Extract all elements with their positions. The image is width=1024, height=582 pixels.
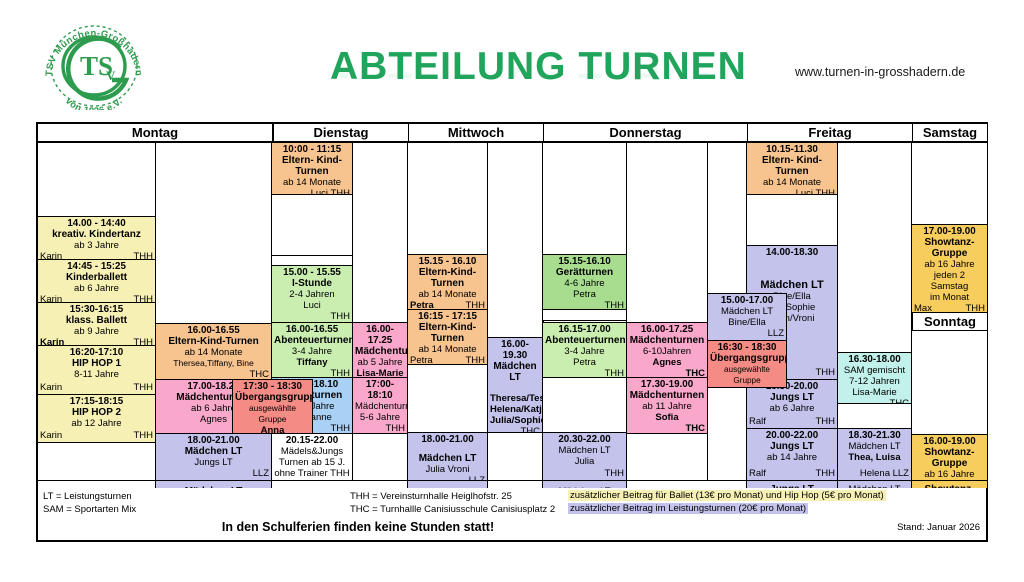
class-time: 14.00 - 14:40: [40, 218, 153, 229]
day-header-freitag: Freitag: [747, 123, 913, 142]
class-age: 6-10Jahren: [629, 346, 705, 357]
class-age: 3-4 Jahre: [274, 346, 350, 357]
day-header-mittwoch: Mittwoch: [408, 123, 544, 142]
empty-cell: [911, 142, 988, 225]
class-age: ab 6 Jahre: [749, 403, 835, 414]
class-age: Bine/Ella: [710, 317, 784, 328]
class-name: Gerätturnen: [545, 267, 624, 278]
class-coach: ohne Trainer THH: [274, 468, 350, 479]
class-age: ab 14 Monate: [749, 177, 835, 188]
class-block-mo4[interactable]: 16:20-17:10 HIP HOP 1 8-11 Jahre KarinTH…: [37, 345, 156, 395]
class-time: 20.00-22.00: [749, 430, 835, 441]
class-coach-3: Julia/Sophie: [490, 415, 540, 426]
class-name: HIP HOP 1: [40, 358, 153, 369]
class-block-di3[interactable]: 16.00-16.55 Abenteuerturnen 3-4 Jahre Ti…: [271, 322, 353, 378]
class-block-mo8[interactable]: 18.00-21.00 Mädchen LT Jungs LT LLZ: [155, 433, 272, 481]
class-time: 15:30-16:15: [40, 304, 153, 315]
class-coach: Karin: [40, 430, 62, 441]
legend-fee-lt: zusätzlicher Beitrag im Leistungsturnen …: [568, 503, 808, 514]
class-age: 7-12 Jahren: [840, 376, 909, 387]
legend-sam: SAM = Sportarten Mix: [43, 504, 136, 515]
class-name: Übergangsgruppe: [710, 353, 784, 364]
class-name: Mädchenturnen: [629, 335, 705, 346]
class-block-do7[interactable]: 16:30 - 18:30 Übergangsgruppe ausgewählt…: [707, 340, 787, 388]
class-age: ab 12 Jahre: [40, 418, 153, 429]
class-age: Julia: [545, 456, 624, 467]
empty-cell: [837, 403, 912, 429]
class-name: Eltern-Kind-Turnen: [158, 336, 269, 347]
day-header-sonntag: Sonntag: [912, 312, 988, 331]
empty-cell: [487, 142, 543, 338]
empty-cell: [352, 142, 408, 327]
class-hall: LLZ: [710, 328, 784, 339]
class-block-di6[interactable]: 16.00-17.25 Mädchenturnen ab 5 Jahre Lis…: [352, 322, 408, 378]
day-header-donnerstag: Donnerstag: [543, 123, 748, 142]
empty-cell: [271, 194, 353, 256]
empty-cell: [542, 377, 627, 433]
class-block-do1[interactable]: 15.15-16.10 Gerätturnen 4-6 Jahre Petra …: [542, 254, 627, 310]
class-time: 17.00-19.00: [914, 226, 985, 237]
class-coach: Tiffany: [274, 357, 350, 368]
class-time: 20.15-22.00: [274, 435, 350, 446]
class-name: Mädchen LT: [545, 445, 624, 456]
class-time: 18.00-21.00: [158, 435, 269, 446]
class-age: ab 14 Monate: [274, 177, 350, 188]
class-time: 17:30 - 18:30: [235, 381, 310, 392]
class-block-do2[interactable]: 16.15-17.00 Abenteuerturnen 3-4 Jahre Pe…: [542, 322, 627, 378]
empty-cell: [407, 364, 488, 433]
class-time: 16.00-19.00: [914, 436, 985, 447]
legend-thh: THH = Vereinsturnhalle Heiglhofstr. 25: [350, 491, 512, 502]
class-name: Mädchen LT: [749, 280, 835, 291]
empty-cell: [626, 142, 708, 338]
class-time: 16.00-16.55: [274, 324, 350, 335]
class-name: Mädchenturnen: [629, 390, 705, 401]
class-name: Mädchenturnen: [355, 401, 405, 412]
class-coach: Agnes: [629, 357, 705, 368]
class-name: Mädchen LT: [410, 453, 485, 464]
website-url: www.turnen-in-grosshadern.de: [795, 65, 965, 79]
class-name: Übergangsgruppe: [235, 392, 310, 403]
class-block-mo5[interactable]: 17:15-18:15 HIP HOP 2 ab 12 Jahre KarinT…: [37, 394, 156, 443]
class-time: 18.00-21.00: [410, 434, 485, 445]
class-block-mo2[interactable]: 14:45 - 15:25 Kinderballett ab 6 Jahre K…: [37, 259, 156, 303]
class-block-mi3[interactable]: 18.00-21.00 Mädchen LT Julia Vroni LLZ: [407, 432, 488, 481]
class-block-mi1[interactable]: 15.15 - 16.10 Eltern-Kind-Turnen ab 14 M…: [407, 254, 488, 310]
class-time: 16:15 - 17:15: [410, 311, 485, 322]
class-name: Mädchen LT: [158, 446, 269, 457]
empty-cell: [37, 142, 156, 217]
class-name: Jungs LT: [749, 441, 835, 452]
day-header-samstag: Samstag: [912, 123, 988, 142]
class-block-fr6[interactable]: 18.30-21.30 Mädchen LT Thea, Luisa Helen…: [837, 428, 912, 481]
class-block-so1[interactable]: 16.00-19.00 Showtanz-Gruppe ab 16 Jahre …: [911, 434, 988, 481]
class-hall: THH: [815, 416, 835, 427]
class-name: kreativ. Kindertanz: [40, 229, 153, 240]
class-block-do5[interactable]: 17.30-19.00 Mädchenturnen ab 11 Jahre So…: [626, 377, 708, 434]
class-coach: Max: [914, 303, 932, 313]
class-time: 15.15 - 16.10: [410, 256, 485, 267]
class-block-fr5[interactable]: 16.30-18.00 SAM gemischt 7-12 Jahren Lis…: [837, 352, 912, 404]
empty-cell: [352, 433, 408, 481]
empty-cell: [487, 432, 543, 481]
class-time: 17:15-18:15: [40, 396, 153, 407]
legend-thc: THC = Turnhallle Canisiusschule Canisius…: [350, 504, 555, 515]
class-coach: Lisa-Marie: [840, 387, 909, 398]
class-name: Showtanz-Gruppe: [914, 237, 985, 259]
class-block-mo9[interactable]: 17:30 - 18:30 Übergangsgruppe ausgewählt…: [232, 379, 313, 434]
class-age: Jungs LT: [158, 457, 269, 468]
class-time: 16.00-17.25: [355, 324, 405, 346]
class-block-do3[interactable]: 20.30-22.00 Mädchen LT Julia THH: [542, 432, 627, 481]
class-name: klass. Ballett: [40, 315, 153, 326]
class-time: 15.00-17.00: [710, 295, 784, 306]
class-time: 18.30-21.30: [840, 430, 909, 441]
class-name: Eltern- Kind-Turnen: [274, 155, 350, 177]
class-name: Eltern-Kind-Turnen: [410, 322, 485, 344]
class-time: 17.30-19.00: [629, 379, 705, 390]
holiday-notice: In den Schulferien finden keine Stunden …: [38, 520, 678, 534]
class-name: Kinderballett: [40, 272, 153, 283]
class-block-mi2[interactable]: 16:15 - 17:15 Eltern-Kind-Turnen ab 14 M…: [407, 309, 488, 365]
class-age: ab 14 Monate: [410, 289, 485, 300]
class-name: Jungs LT: [749, 392, 835, 403]
empty-cell: [626, 433, 708, 481]
class-coach: Helena LLZ: [840, 468, 909, 479]
class-age: Julia Vroni: [410, 464, 485, 475]
class-name: Mädchen LT: [710, 306, 784, 317]
class-hall: LLZ: [158, 468, 269, 479]
class-hall: THH: [815, 468, 835, 479]
class-time: 10:00 - 11:15: [274, 144, 350, 155]
class-age: Turnen ab 15 J.: [274, 457, 350, 468]
class-block-do4[interactable]: 16.00-17.25 Mädchenturnen 6-10Jahren Agn…: [626, 322, 708, 378]
class-name: Eltern-Kind-Turnen: [410, 267, 485, 289]
class-coach: Petra: [545, 357, 624, 368]
class-time: 15.15-16.10: [545, 256, 624, 267]
class-age: ab 16 Jahre: [914, 469, 985, 480]
class-coach: Luci: [274, 300, 350, 311]
class-note-2: im Monat: [914, 292, 985, 303]
class-time: 14.00-18.30: [749, 247, 835, 258]
class-age: 4-6 Jahre: [545, 278, 624, 289]
class-time: 16.30-18.00: [840, 354, 909, 365]
class-note-1: jeden 2 Samstag: [914, 270, 985, 292]
empty-cell: [746, 194, 838, 246]
empty-cell: [707, 387, 747, 481]
legend-fee-ballet: zusätzlicher Beitrag für Ballet (13€ pro…: [568, 490, 886, 501]
class-block-di1[interactable]: 10:00 - 11:15 Eltern- Kind-Turnen ab 14 …: [271, 142, 353, 195]
class-time: 16:20-17:10: [40, 347, 153, 358]
class-age: ab 9 Jahre: [40, 326, 153, 337]
class-coach: Ralf: [749, 468, 766, 479]
schedule-table: Montag Dienstag Mittwoch Donnerstag Frei…: [36, 122, 988, 542]
class-age: ausgewählte Gruppe: [710, 364, 784, 386]
empty-cell: [155, 142, 272, 338]
class-coach: Sofia: [629, 412, 705, 423]
class-block-mo3[interactable]: 15:30-16:15 klass. Ballett ab 9 Jahre Ka…: [37, 302, 156, 346]
class-name: Mädchenturnen: [355, 346, 405, 357]
class-block-di5[interactable]: 20.15-22.00 Mädels&Jungs Turnen ab 15 J.…: [271, 433, 353, 481]
class-age: ab 6 Jahre: [40, 283, 153, 294]
legend-lt: LT = Leistungsturnen: [43, 491, 132, 502]
class-coach: Theresa/Tessa: [490, 393, 540, 404]
class-block-fr4[interactable]: 20.00-22.00 Jungs LT ab 14 Jahre RalfTHH: [746, 428, 838, 481]
class-coach: Karin: [40, 382, 62, 393]
version-date: Stand: Januar 2026: [897, 522, 980, 533]
page-title: ABTEILUNG TURNEN: [330, 44, 770, 90]
class-time: 20.30-22.00: [545, 434, 624, 445]
empty-cell: [707, 142, 747, 294]
class-age: ab 5 Jahre: [355, 357, 405, 368]
class-coach: Thersea,Tiffany, Bine: [158, 358, 269, 369]
class-hall: THH: [965, 303, 985, 313]
class-block-sa1[interactable]: 17.00-19.00 Showtanz-Gruppe ab 16 Jahre …: [911, 224, 988, 313]
class-time: 16.00-16.55: [158, 325, 269, 336]
class-age: ab 11 Jahre: [629, 401, 705, 412]
class-time: 14:45 - 15:25: [40, 261, 153, 272]
class-hall: THH: [274, 311, 350, 322]
class-coach: Petra: [545, 289, 624, 300]
class-name: Mädchen LT: [840, 441, 909, 452]
class-block-di7[interactable]: 17:00-18:10 Mädchenturnen 5-6 Jahre THH: [352, 377, 408, 434]
class-age: ab 14 Monate: [158, 347, 269, 358]
class-block-mo1[interactable]: 14.00 - 14:40 kreativ. Kindertanz ab 3 J…: [37, 216, 156, 260]
class-age: 2-4 Jahren: [274, 289, 350, 300]
day-header-dienstag: Dienstag: [273, 123, 409, 142]
class-time: 16:30 - 18:30: [710, 342, 784, 353]
class-name: Eltern- Kind-Turnen: [749, 155, 835, 177]
class-time: 16.00-17.25: [629, 324, 705, 335]
class-time: 16.15-17.00: [545, 324, 624, 335]
class-age: ab 16 Jahre: [914, 259, 985, 270]
class-hall: THH: [545, 300, 624, 310]
class-block-mi4[interactable]: 16.00-19.30 Mädchen LT Theresa/Tessa Hel…: [487, 337, 543, 433]
class-age: 3-4 Jahre: [545, 346, 624, 357]
class-hall: THH: [133, 430, 153, 441]
class-hall: THH: [133, 382, 153, 393]
class-age: ab 14 Jahre: [749, 452, 835, 463]
legend-area: LT = Leistungsturnen SAM = Sportarten Mi…: [36, 488, 988, 542]
empty-cell: [911, 330, 988, 435]
class-age: ausgewählte Gruppe: [235, 403, 310, 425]
class-name: Abenteuerturnen: [274, 335, 350, 346]
class-age: ab 14 Monate: [410, 344, 485, 355]
class-name: Mädchen LT: [490, 361, 540, 383]
class-age: Thea, Luisa: [840, 452, 909, 463]
day-header-montag: Montag: [37, 123, 273, 142]
class-name: Showtanz-Gruppe: [914, 447, 985, 469]
class-age: 8-11 Jahre: [40, 369, 153, 380]
class-name: Abenteuerturnen: [545, 335, 624, 346]
class-block-di2[interactable]: 15.00 - 15.55 I-Stunde 2-4 Jahren Luci T…: [271, 265, 353, 323]
class-time: 10.15-11.30: [749, 144, 835, 155]
class-block-do6[interactable]: 15.00-17.00 Mädchen LT Bine/Ella LLZ: [707, 293, 787, 341]
class-name: I-Stunde: [274, 278, 350, 289]
class-name: Mädels&Jungs: [274, 446, 350, 457]
class-block-mo6[interactable]: 16.00-16.55 Eltern-Kind-Turnen ab 14 Mon…: [155, 323, 272, 380]
class-time: 16.00-19.30: [490, 339, 540, 361]
class-coach: Ralf: [749, 416, 766, 427]
class-block-fr1[interactable]: 10.15-11.30 Eltern- Kind-Turnen ab 14 Mo…: [746, 142, 838, 195]
class-coach: Anna: [710, 386, 784, 388]
class-coach: Anna: [235, 425, 310, 434]
class-name: SAM gemischt: [840, 365, 909, 376]
class-time: 17:00-18:10: [355, 379, 405, 401]
club-logo: TSV München-Großhadern von 1926 e.V. TS …: [40, 22, 148, 110]
class-age: 5-6 Jahre: [355, 412, 405, 423]
empty-cell: [837, 142, 912, 353]
class-hall: THH: [545, 468, 624, 479]
class-name: HIP HOP 2: [40, 407, 153, 418]
class-age: ab 3 Jahre: [40, 240, 153, 251]
class-time: 15.00 - 15.55: [274, 267, 350, 278]
class-coach-2: Helena/Katja: [490, 404, 540, 415]
page-header: TSV München-Großhadern von 1926 e.V. TS …: [0, 0, 1024, 118]
